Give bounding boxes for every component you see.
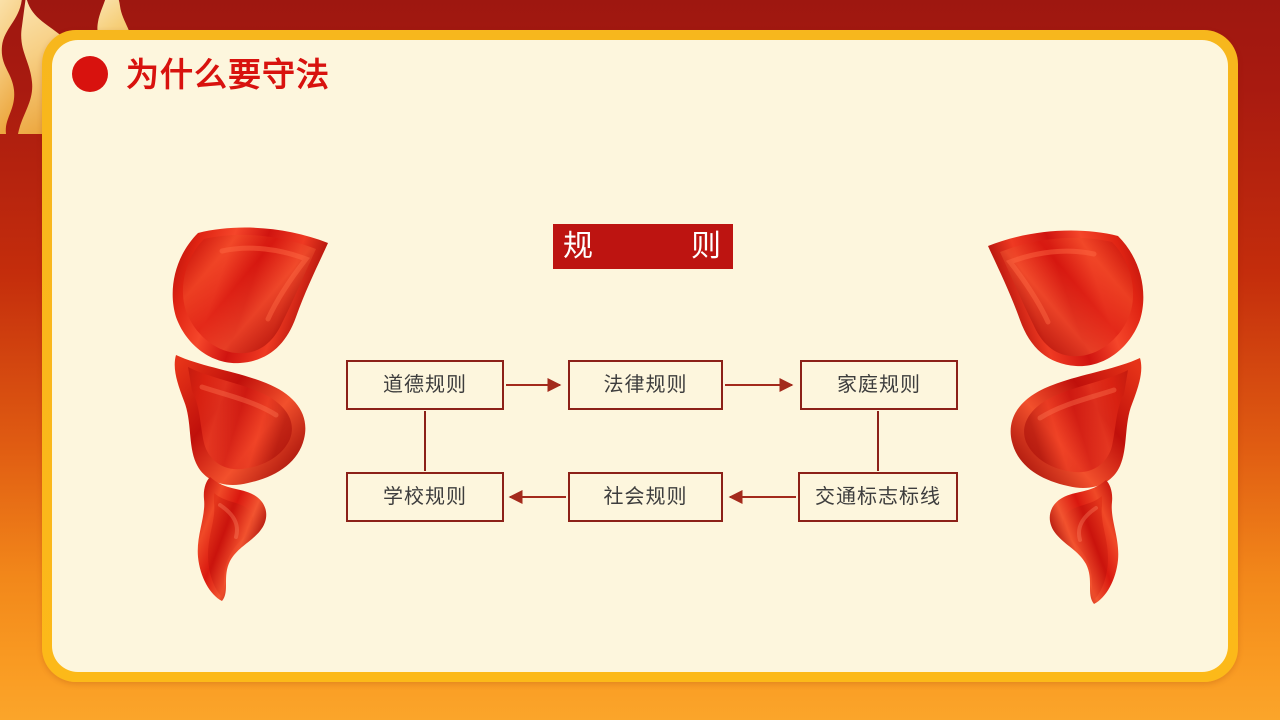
section-banner-label: 规 则	[563, 232, 723, 262]
flow-node-label: 社会规则	[604, 487, 688, 507]
flow-node-traffic-signs[interactable]: 交通标志标线	[798, 472, 958, 522]
flow-node-label: 学校规则	[383, 487, 467, 507]
section-banner: 规 则	[553, 224, 733, 269]
flow-node-moral[interactable]: 道德规则	[346, 360, 504, 410]
flow-node-label: 家庭规则	[837, 375, 921, 395]
flow-node-society[interactable]: 社会规则	[568, 472, 723, 522]
slide-root: 为什么要守法 规 则 道德规则 法律规则 家庭规则 交通标志标线	[0, 0, 1280, 720]
flow-node-label: 道德规则	[383, 375, 467, 395]
filled-circle-icon	[72, 56, 108, 92]
flow-node-label: 交通标志标线	[815, 487, 941, 507]
flow-node-school[interactable]: 学校规则	[346, 472, 504, 522]
page-title: 为什么要守法	[126, 58, 330, 91]
flow-node-family[interactable]: 家庭规则	[800, 360, 958, 410]
flow-node-label: 法律规则	[604, 375, 688, 395]
slide-header: 为什么要守法	[72, 56, 330, 92]
flow-node-law[interactable]: 法律规则	[568, 360, 723, 410]
